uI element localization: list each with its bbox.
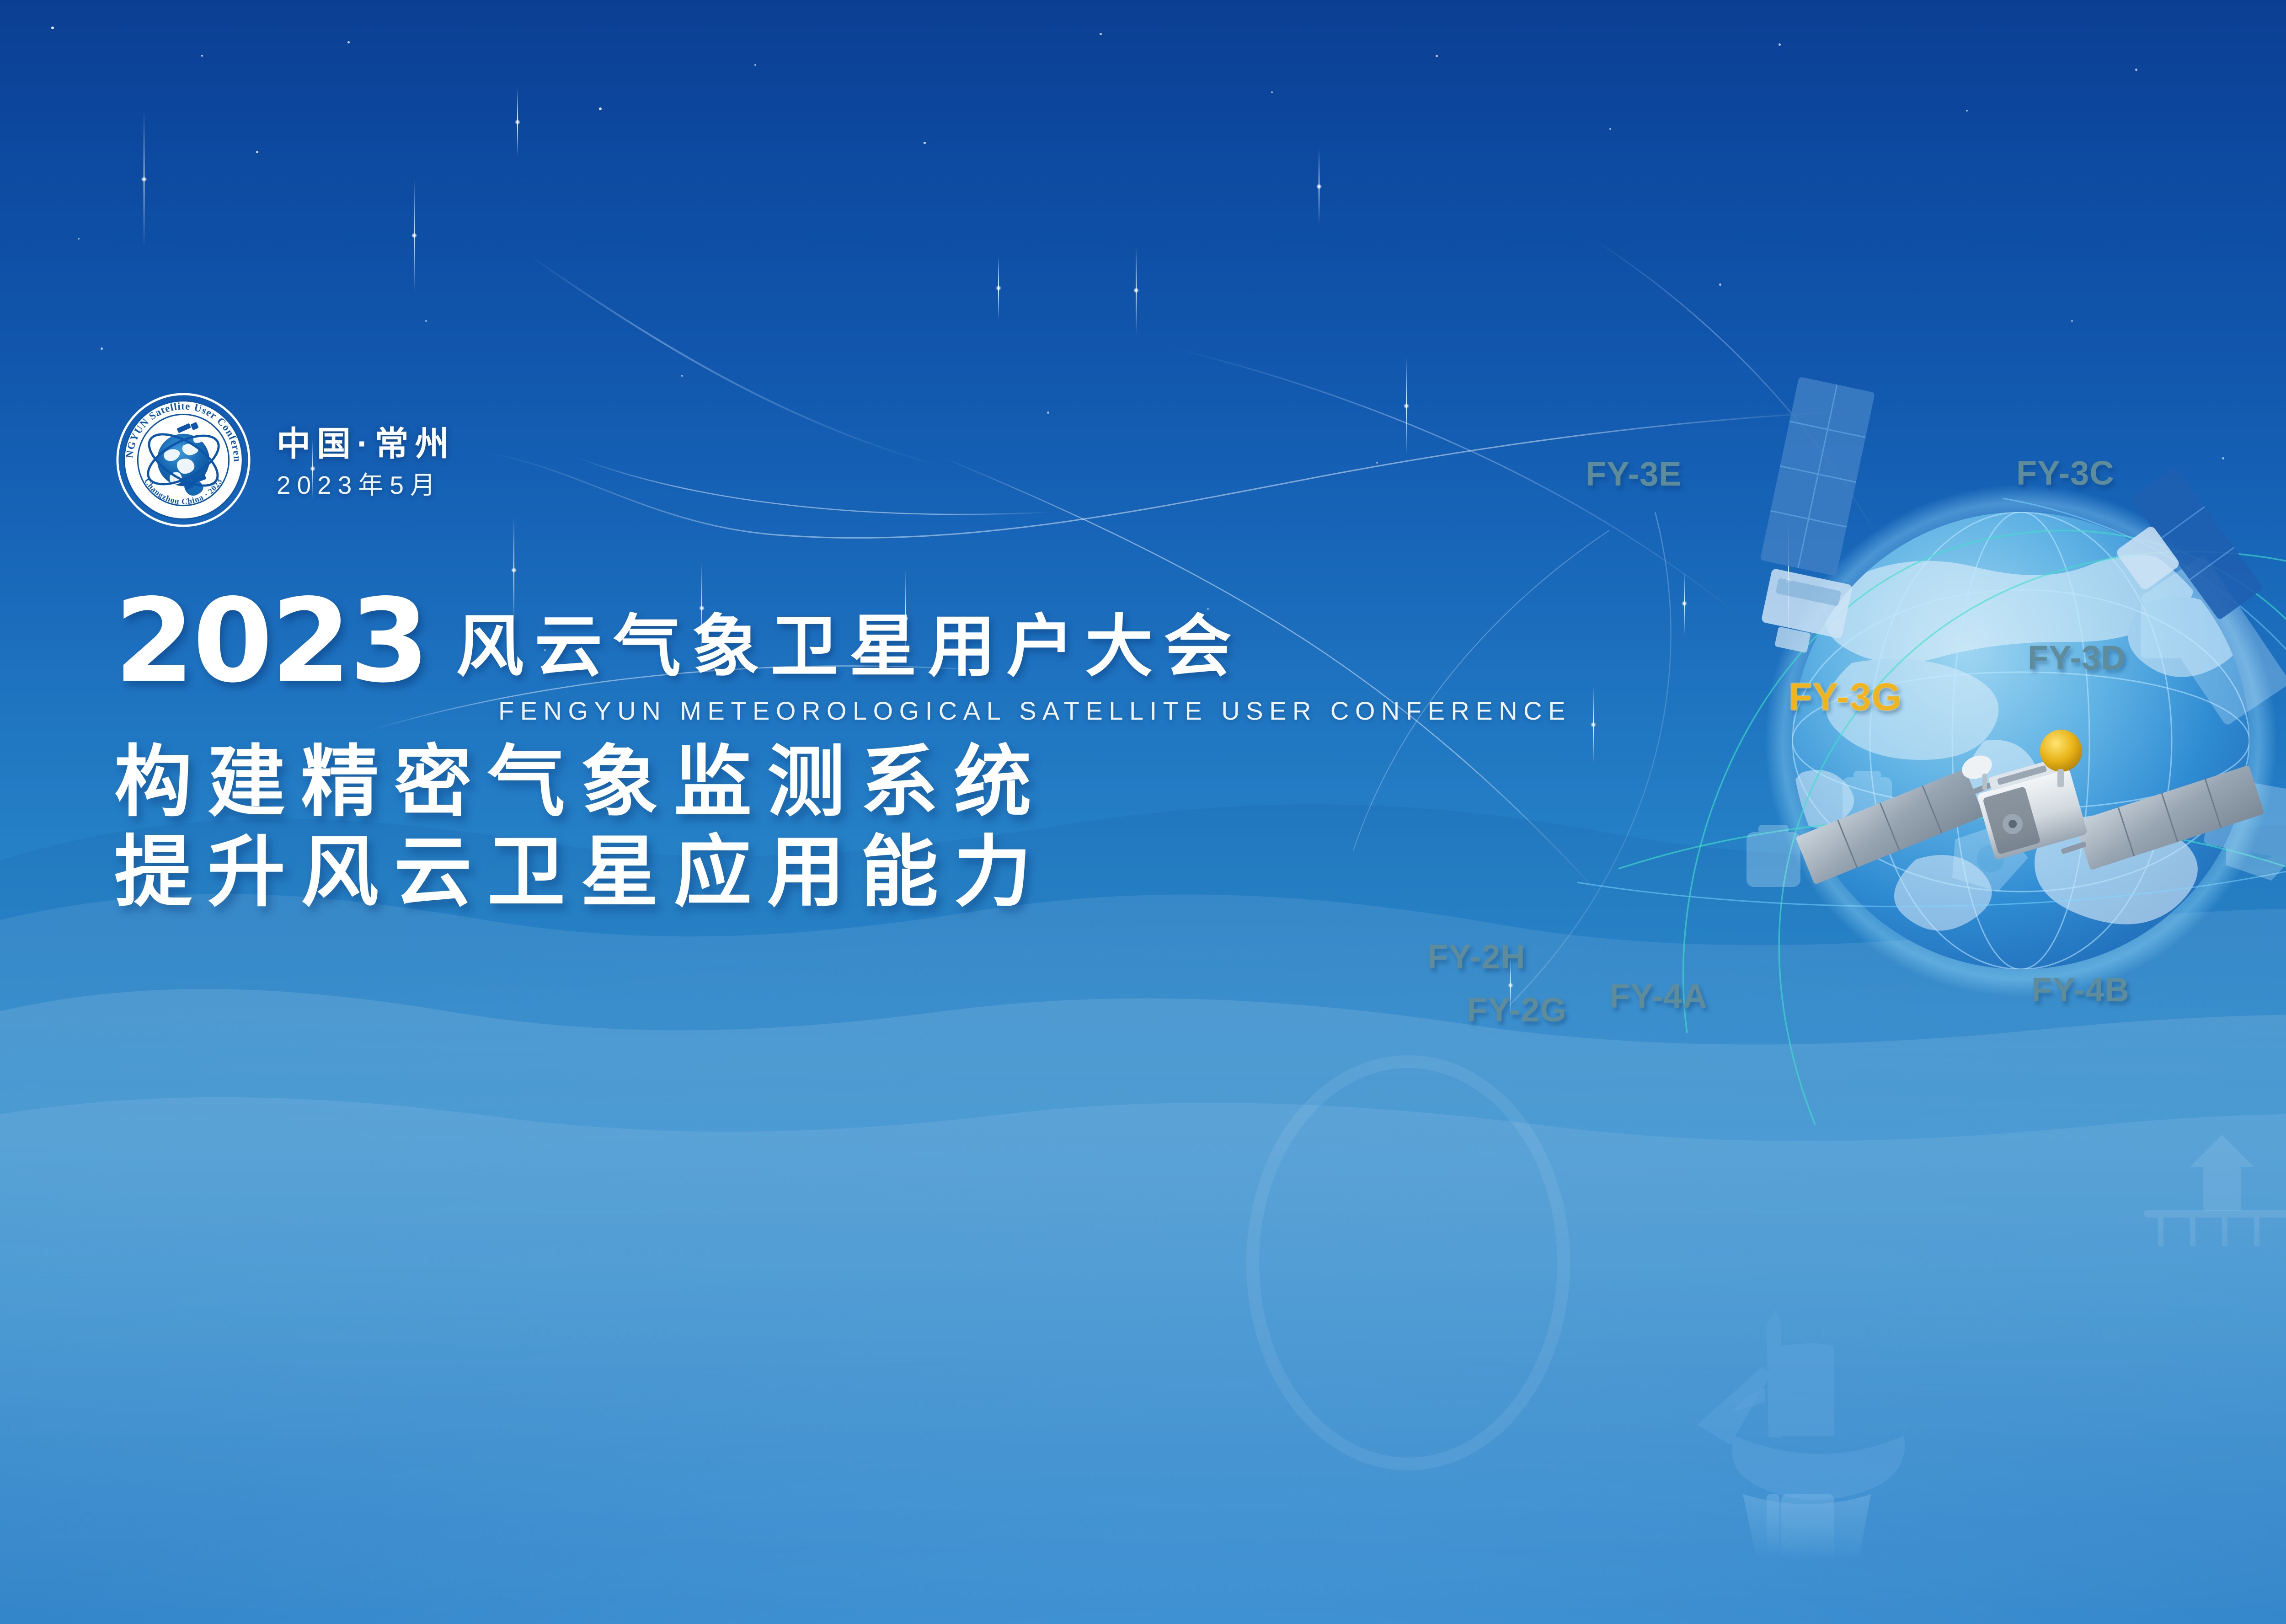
slogan-block: 构建精密气象监测系统 提升风云卫星应用能力 [114,743,1669,913]
year-heading: 2023 [114,594,427,689]
satellite-label-fy3g: FY-3G [1789,678,1902,716]
conference-title-en: FENGYUN METEOROLOGICAL SATELLITE USER CO… [498,698,1669,724]
satellite-label-fy3d: FY-3D [2028,641,2126,675]
satellite-label-fy2g: FY-2G [1467,993,1567,1027]
conference-banner: FENGYUN Satellite User Conference Changz… [0,0,2286,1624]
slogan-line-2: 提升风云卫星应用能力 [114,833,1669,912]
date-text: 2023年5月 [277,473,455,498]
conference-emblem-logo: FENGYUN Satellite User Conference Changz… [116,392,251,528]
satellite-label-fy3e: FY-3E [1586,457,1682,491]
slogan-line-1: 构建精密气象监测系统 [114,743,1669,822]
satellite-label-fy4a: FY-4A [1609,979,1708,1013]
satellite-label-fy2h: FY-2H [1427,940,1526,974]
location-text: 中国·常州 [277,427,455,461]
conference-title-cn: 风云气象卫星用户大会 [456,613,1242,689]
boat-silhouette [1628,1271,1975,1564]
satellite-label-fy3c: FY-3C [2016,456,2115,490]
title-block: 2023 风云气象卫星用户大会 FENGYUN METEOROLOGICAL S… [114,594,1669,912]
satellite-label-fy4b: FY-4B [2031,973,2130,1007]
banner-header: FENGYUN Satellite User Conference Changz… [116,392,455,528]
